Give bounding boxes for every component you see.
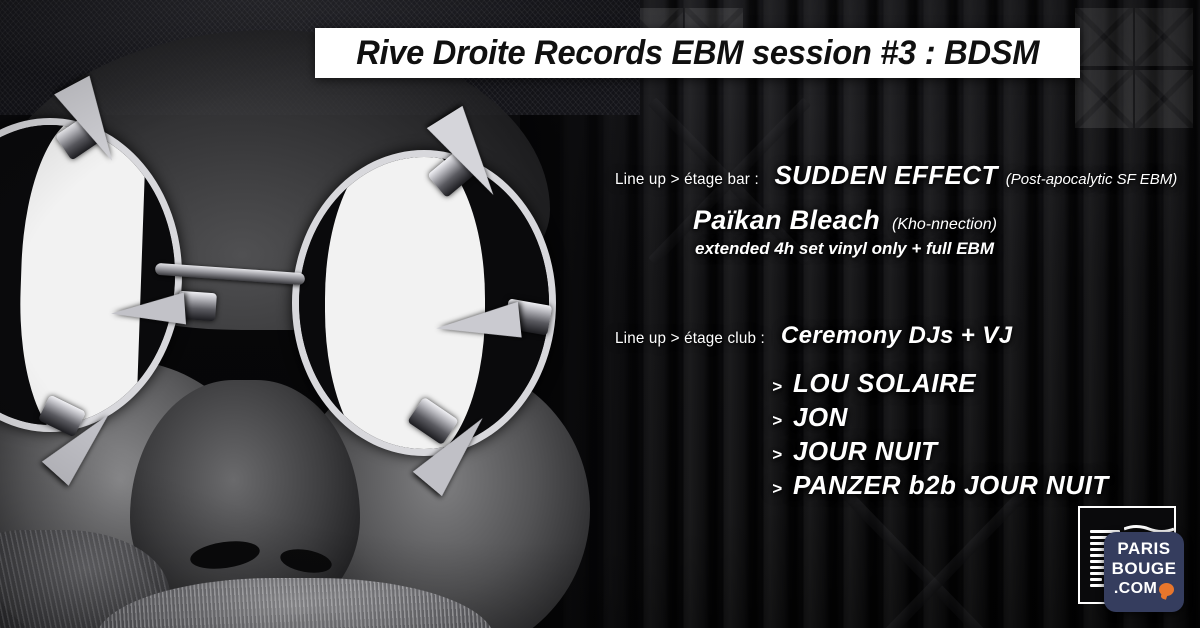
lineup-bar-second-act-row: Païkan Bleach (Kho-nnection) [615, 205, 1200, 236]
lineup-club-headline-row: Line up > étage club : Ceremony DJs + VJ [615, 322, 1012, 350]
lineup-bar-headliner-note: (Post-apocalytic SF EBM) [1006, 171, 1177, 188]
event-poster: Rive Droite Records EBM session #3 : BDS… [0, 0, 1200, 628]
lineup-bar-second-act-detail: extended 4h set vinyl only + full EBM [615, 239, 1200, 259]
list-item: > LOU SOLAIRE [772, 368, 1109, 399]
lineup-club-block: Line up > étage club : Ceremony DJs + VJ [615, 322, 1012, 350]
parisbouge-logo[interactable]: PARIS BOUGE .COM [1078, 506, 1184, 612]
dj-marker-icon: > [772, 445, 782, 465]
ornate-cross-block [1075, 70, 1133, 128]
list-item: > JON [772, 402, 1109, 433]
dj-name: PANZER b2b JOUR NUIT [793, 470, 1109, 501]
ornate-cross-block [1075, 8, 1133, 66]
lineup-bar-second-act-note: (Kho-nnection) [892, 216, 997, 234]
list-item: > PANZER b2b JOUR NUIT [772, 470, 1109, 501]
lineup-bar-headline-row: Line up > étage bar : SUDDEN EFFECT (Pos… [615, 160, 1200, 191]
metal-spike [110, 292, 186, 329]
speech-bubble-icon [1159, 583, 1174, 596]
lineup-club-headliner: Ceremony DJs + VJ [781, 322, 1013, 350]
ornate-cross-block [1135, 70, 1193, 128]
lineup-club-label: Line up > étage club : [615, 330, 765, 348]
lineup-bar-block: Line up > étage bar : SUDDEN EFFECT (Pos… [615, 160, 1200, 259]
face-photo [0, 30, 620, 628]
logo-line-bouge: BOUGE [1104, 559, 1184, 579]
lineup-bar-second-act: Païkan Bleach [693, 205, 880, 236]
lineup-bar-headliner: SUDDEN EFFECT [774, 160, 997, 191]
logo-line-com: .COM [1114, 580, 1157, 598]
logo-line-paris: PARIS [1104, 539, 1184, 559]
logo-com-row: .COM [1104, 580, 1184, 598]
logo-badge[interactable]: PARIS BOUGE .COM [1104, 532, 1184, 612]
lineup-bar-label: Line up > étage bar : [615, 171, 759, 189]
dj-marker-icon: > [772, 411, 782, 431]
dj-marker-icon: > [772, 377, 782, 397]
poster-title: Rive Droite Records EBM session #3 : BDS… [356, 34, 1039, 73]
dj-name: JON [793, 402, 848, 433]
dj-list: > LOU SOLAIRE > JON > JOUR NUIT > PANZER… [772, 368, 1109, 504]
lens-white-reflection [325, 150, 485, 456]
dj-name: LOU SOLAIRE [793, 368, 976, 399]
title-banner: Rive Droite Records EBM session #3 : BDS… [315, 28, 1080, 78]
dj-name: JOUR NUIT [793, 436, 938, 467]
ornate-cross-block [1135, 8, 1193, 66]
dj-marker-icon: > [772, 479, 782, 499]
list-item: > JOUR NUIT [772, 436, 1109, 467]
